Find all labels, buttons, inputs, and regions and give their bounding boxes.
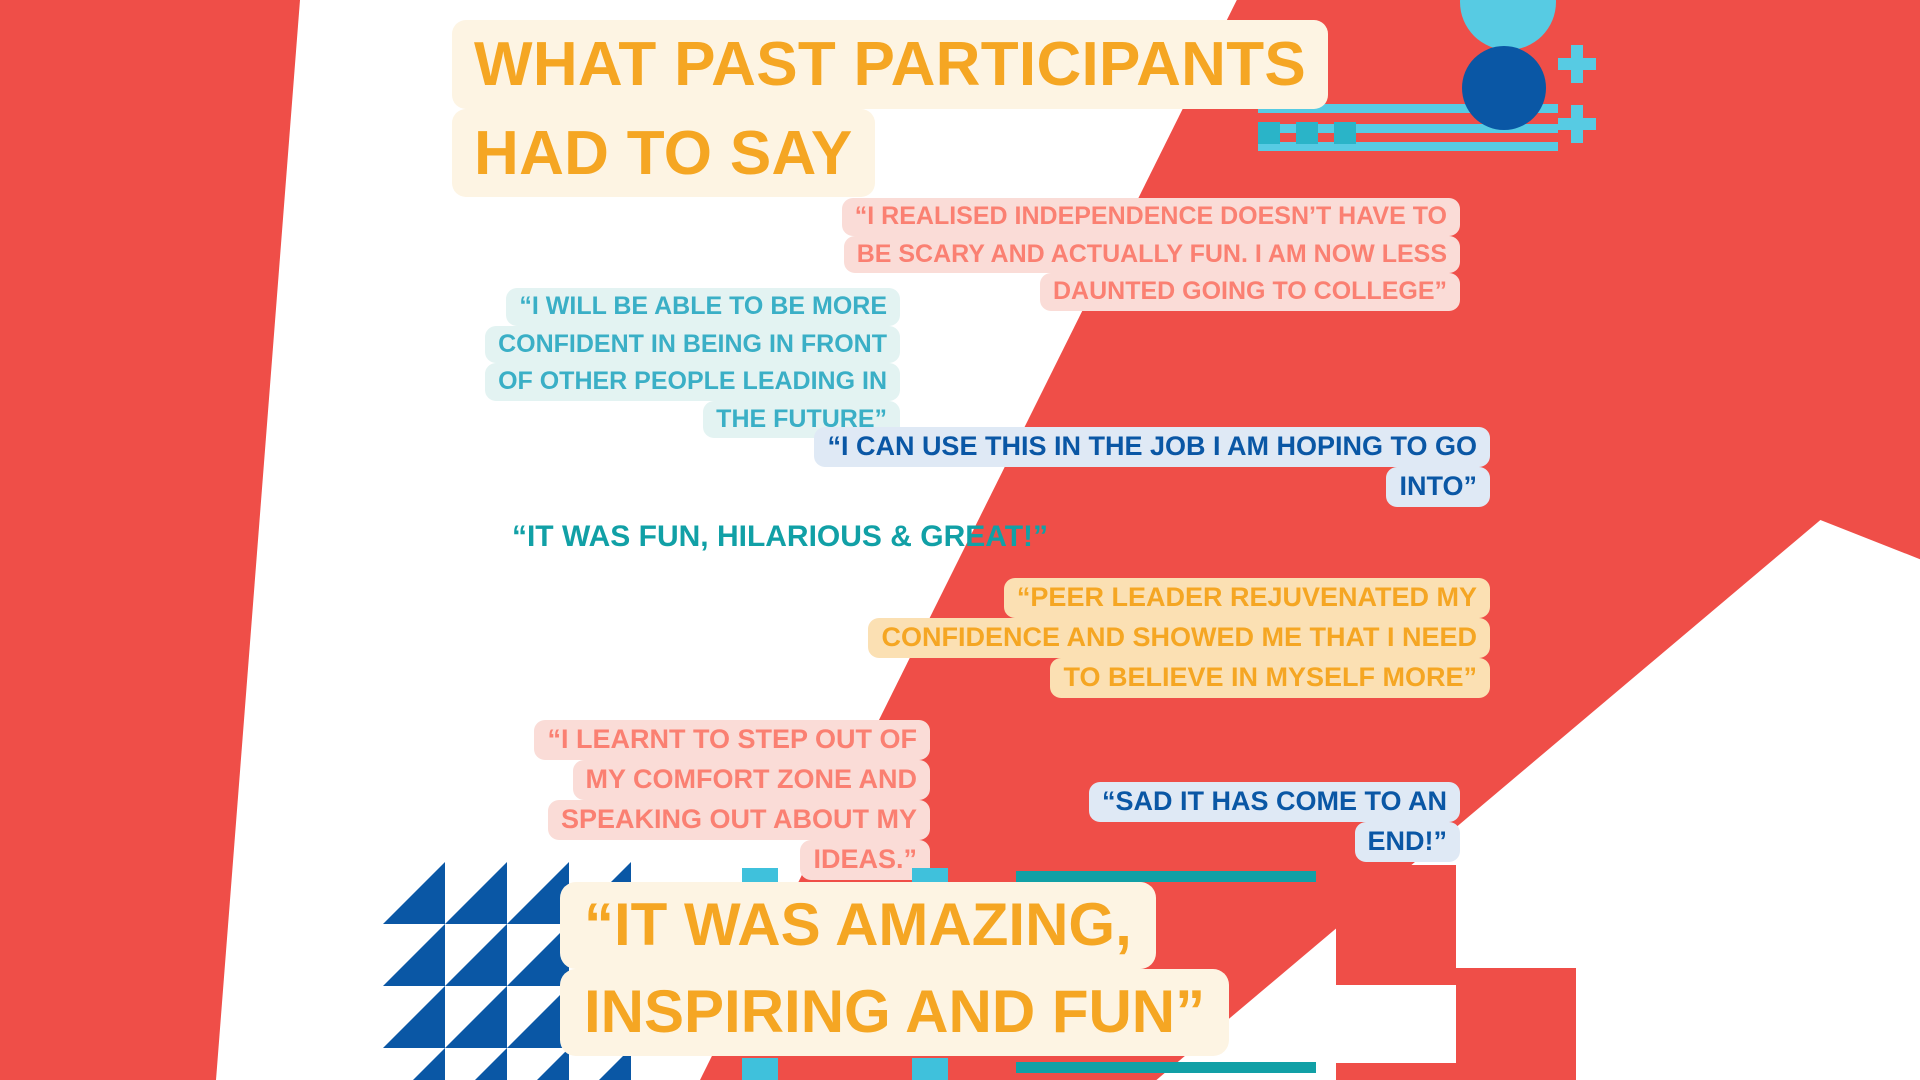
quote-line: “I WILL BE ABLE TO BE MORE [506, 288, 900, 326]
quote-card-comfort-zone: “I LEARNT TO STEP OUT OF MY COMFORT ZONE… [380, 720, 930, 880]
page-title-line-1: WHAT PAST PARTICIPANTS [452, 20, 1328, 109]
quote-line: BE SCARY AND ACTUALLY FUN. I AM NOW LESS [844, 236, 1460, 274]
quote-line: SPEAKING OUT ABOUT MY [548, 800, 930, 840]
teal-bar-top [1016, 871, 1316, 882]
teal-bar-bottom [1016, 1062, 1316, 1073]
quote-line: “IT WAS FUN, HILARIOUS & GREAT!” [508, 515, 1052, 559]
testimonial-poster: WHAT PAST PARTICIPANTS HAD TO SAY “I REA… [0, 0, 1920, 1080]
quote-line: CONFIDENCE AND SHOWED ME THAT I NEED [868, 618, 1490, 658]
quote-line: CONFIDENT IN BEING IN FRONT [485, 326, 900, 364]
closing-quote-line-1: “IT WAS AMAZING, [560, 882, 1156, 969]
cyan-plus-icon-2 [1558, 105, 1596, 143]
cyan-tick [742, 1058, 778, 1080]
quote-line: OF OTHER PEOPLE LEADING IN [485, 363, 900, 401]
cyan-tick [912, 1058, 948, 1080]
quote-line: “I LEARNT TO STEP OUT OF [534, 720, 930, 760]
quote-line: “I REALISED INDEPENDENCE DOESN’T HAVE TO [842, 198, 1460, 236]
checker-square [1336, 865, 1456, 985]
quote-card-sad-end: “SAD IT HAS COME TO AN END!” [960, 782, 1460, 862]
triangle-shape [445, 986, 507, 1048]
quote-line: END!” [1355, 822, 1461, 862]
triangle-shape [383, 986, 445, 1048]
closing-quote: “IT WAS AMAZING, INSPIRING AND FUN” [560, 882, 1350, 1056]
quote-card-peer-leader: “PEER LEADER REJUVENATED MY CONFIDENCE A… [640, 578, 1490, 698]
quote-line: TO BELIEVE IN MYSELF MORE” [1050, 658, 1490, 698]
red-left-band [0, 0, 300, 1080]
quote-line: “PEER LEADER REJUVENATED MY [1004, 578, 1490, 618]
checker-square [1336, 1063, 1456, 1080]
quote-line: “I CAN USE THIS IN THE JOB I AM HOPING T… [814, 427, 1490, 467]
triangle-shape [445, 862, 507, 924]
cyan-plus-icon-1 [1558, 45, 1596, 83]
triangle-shape [383, 924, 445, 986]
triangle-shape [383, 862, 445, 924]
quote-card-job: “I CAN USE THIS IN THE JOB I AM HOPING T… [640, 427, 1490, 507]
quote-line: INTO” [1386, 467, 1490, 507]
triangle-shape [445, 924, 507, 986]
quote-card-confident: “I WILL BE ABLE TO BE MORE CONFIDENT IN … [370, 288, 900, 438]
closing-quote-line-2: INSPIRING AND FUN” [560, 969, 1229, 1056]
page-title: WHAT PAST PARTICIPANTS HAD TO SAY [452, 20, 1482, 197]
page-title-line-2: HAD TO SAY [452, 109, 875, 198]
quote-line: IDEAS.” [800, 840, 930, 880]
triangle-shape [383, 1048, 445, 1080]
quote-line: DAUNTED GOING TO COLLEGE” [1040, 273, 1460, 311]
checker-square [1456, 968, 1576, 1080]
quote-line: MY COMFORT ZONE AND [573, 760, 931, 800]
quote-line: “SAD IT HAS COME TO AN [1089, 782, 1460, 822]
triangle-shape [445, 1048, 507, 1080]
quote-card-fun-hilarious: “IT WAS FUN, HILARIOUS & GREAT!” [380, 515, 1180, 559]
